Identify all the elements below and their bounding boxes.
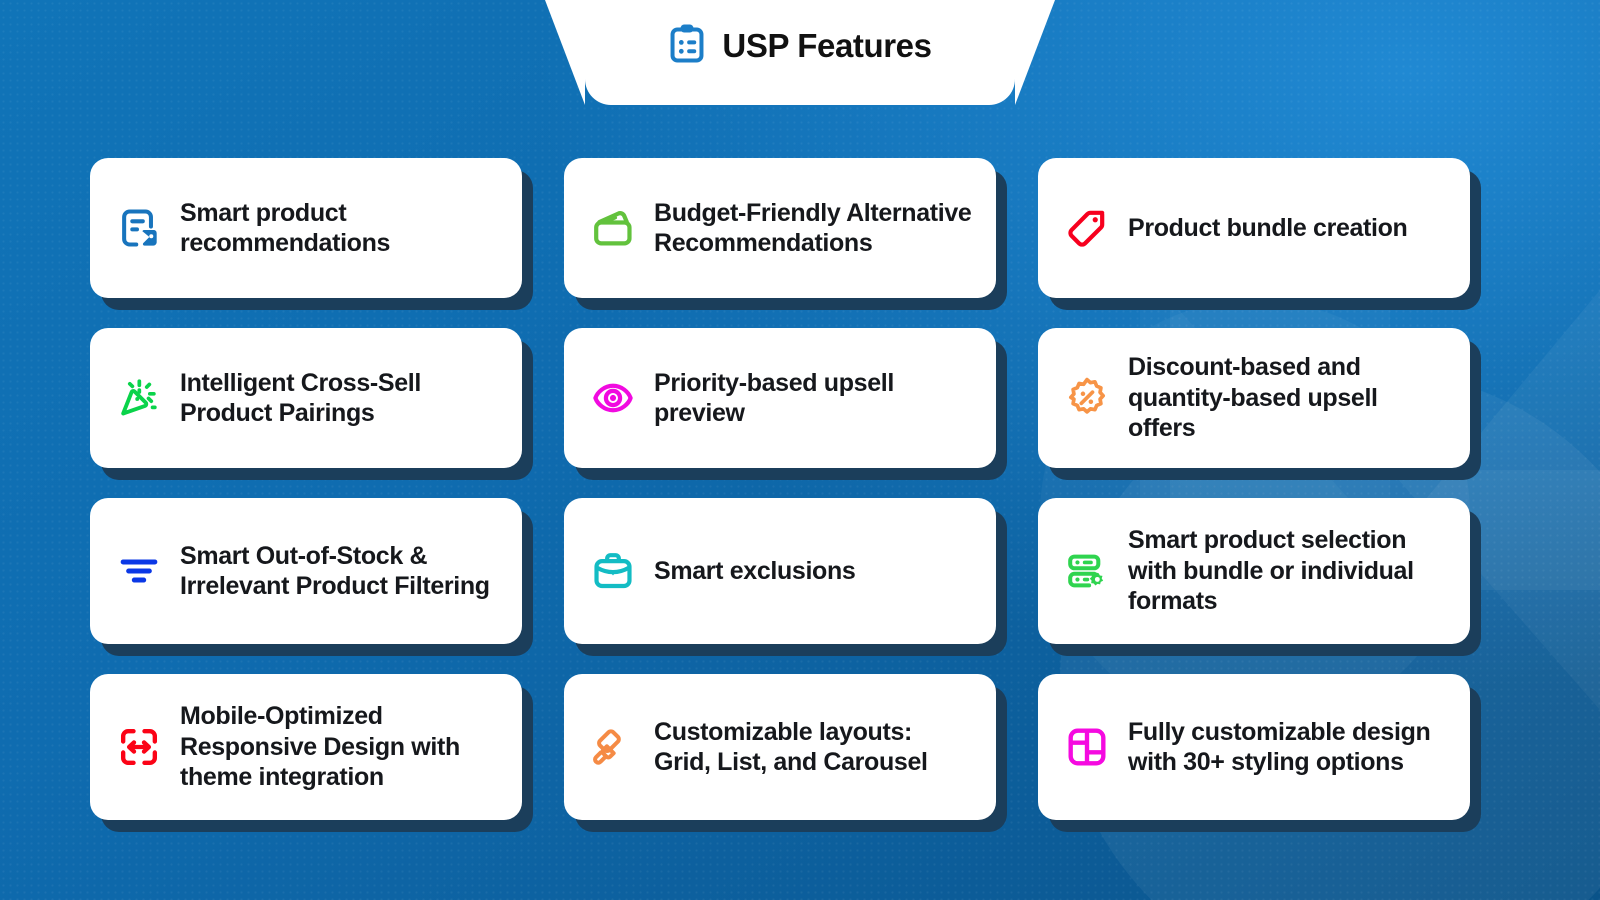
feature-card-budget-friendly-alternative-recommendations[interactable]: Budget-Friendly Alternative Recommendati… — [564, 158, 996, 298]
header-wing-right — [1015, 0, 1055, 105]
party-popper-icon — [116, 375, 162, 421]
feature-card-label: Intelligent Cross-Sell Product Pairings — [180, 368, 500, 429]
feature-card-fully-customizable-design[interactable]: Fully customizable design with 30+ styli… — [1038, 674, 1470, 820]
server-settings-icon — [1064, 548, 1110, 594]
feature-card-label: Priority-based upsell preview — [654, 368, 974, 429]
feature-card-label: Smart Out-of-Stock & Irrelevant Product … — [180, 541, 500, 602]
paint-brush-icon — [590, 724, 636, 770]
feature-card-priority-based-upsell-preview[interactable]: Priority-based upsell preview — [564, 328, 996, 468]
feature-card-customizable-layouts[interactable]: Customizable layouts: Grid, List, and Ca… — [564, 674, 996, 820]
responsive-resize-icon — [116, 724, 162, 770]
card-slot: Budget-Friendly Alternative Recommendati… — [564, 158, 996, 298]
feature-card-smart-out-of-stock-filtering[interactable]: Smart Out-of-Stock & Irrelevant Product … — [90, 498, 522, 644]
feature-card-label: Customizable layouts: Grid, List, and Ca… — [654, 717, 974, 778]
filter-icon — [116, 548, 162, 594]
feature-card-label: Smart product selection with bundle or i… — [1128, 525, 1448, 617]
layout-grid-icon — [1064, 724, 1110, 770]
wallet-icon — [590, 205, 636, 251]
card-slot: Smart product selection with bundle or i… — [1038, 498, 1470, 644]
card-slot: Priority-based upsell preview — [564, 328, 996, 468]
usp-features-infographic: USP Features Smart product recommendatio… — [0, 0, 1600, 900]
feature-card-label: Discount-based and quantity-based upsell… — [1128, 352, 1448, 444]
feature-card-mobile-optimized-responsive-design[interactable]: Mobile-Optimized Responsive Design with … — [90, 674, 522, 820]
feature-card-smart-product-selection-formats[interactable]: Smart product selection with bundle or i… — [1038, 498, 1470, 644]
card-slot: Product bundle creation — [1038, 158, 1470, 298]
feature-card-label: Mobile-Optimized Responsive Design with … — [180, 701, 500, 793]
card-slot: Fully customizable design with 30+ styli… — [1038, 674, 1470, 820]
card-slot: Smart product recommendations — [90, 158, 522, 298]
card-slot: Smart Out-of-Stock & Irrelevant Product … — [90, 498, 522, 644]
feature-card-discount-based-upsell-offers[interactable]: Discount-based and quantity-based upsell… — [1038, 328, 1470, 468]
header-wing-left — [545, 0, 585, 105]
briefcase-icon — [590, 548, 636, 594]
feature-card-product-bundle-creation[interactable]: Product bundle creation — [1038, 158, 1470, 298]
feature-card-label: Product bundle creation — [1128, 213, 1407, 244]
card-slot: Mobile-Optimized Responsive Design with … — [90, 674, 522, 820]
clipboard-list-icon — [668, 23, 706, 68]
card-slot: Intelligent Cross-Sell Product Pairings — [90, 328, 522, 468]
eye-icon — [590, 375, 636, 421]
card-slot: Smart exclusions — [564, 498, 996, 644]
document-tag-icon — [116, 205, 162, 251]
header-banner: USP Features — [585, 0, 1015, 105]
features-grid: Smart product recommendations Budget-Fri… — [90, 158, 1510, 820]
feature-card-smart-exclusions[interactable]: Smart exclusions — [564, 498, 996, 644]
feature-card-smart-product-recommendations[interactable]: Smart product recommendations — [90, 158, 522, 298]
feature-card-label: Budget-Friendly Alternative Recommendati… — [654, 198, 974, 259]
card-slot: Discount-based and quantity-based upsell… — [1038, 328, 1470, 468]
feature-card-label: Smart product recommendations — [180, 198, 500, 259]
page-title: USP Features — [722, 27, 931, 65]
feature-card-intelligent-cross-sell-product-pairings[interactable]: Intelligent Cross-Sell Product Pairings — [90, 328, 522, 468]
card-slot: Customizable layouts: Grid, List, and Ca… — [564, 674, 996, 820]
discount-badge-icon — [1064, 375, 1110, 421]
feature-card-label: Fully customizable design with 30+ styli… — [1128, 717, 1448, 778]
feature-card-label: Smart exclusions — [654, 556, 855, 587]
price-tag-icon — [1064, 205, 1110, 251]
